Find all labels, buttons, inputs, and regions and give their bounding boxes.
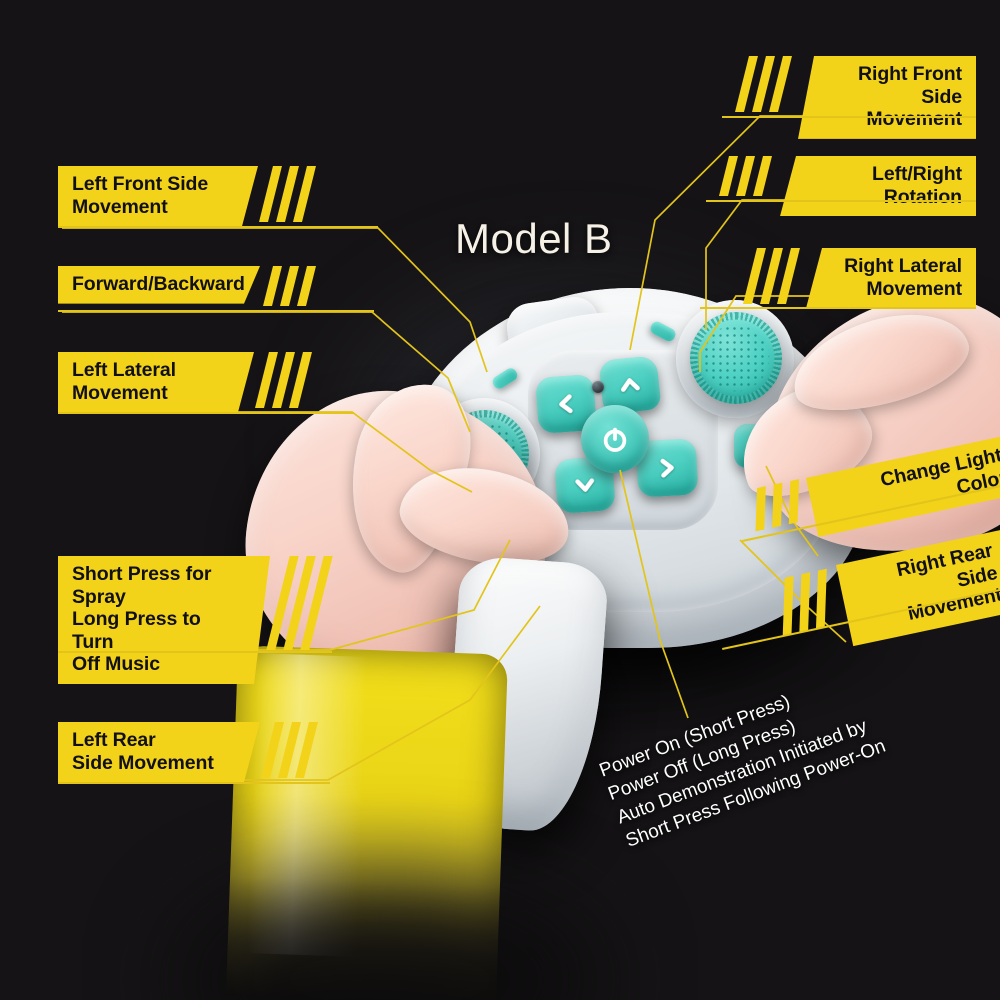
callout-left-front-side-movement: Left Front Side Movement [58, 166, 258, 226]
callout-right-front-side-movement: Right Front Side Movement [798, 56, 976, 139]
chevron-right-icon [653, 454, 680, 481]
underline-right-lateral [700, 307, 976, 309]
chevron-left-icon [552, 390, 580, 418]
callout-right-lateral-movement: Right Lateral Movement [806, 248, 976, 308]
page-title: Model B [455, 215, 613, 263]
wrist-sleeve-highlight [247, 653, 367, 957]
underline-left-rear [58, 782, 330, 784]
underline-forward-backward [58, 310, 374, 312]
power-icon [598, 422, 632, 456]
callout-left-right-rotation: Left/Right Rotation [780, 156, 976, 216]
right-thumbstick-texture [696, 318, 776, 398]
callout-forward-backward: Forward/Backward [58, 266, 260, 304]
status-led [592, 381, 604, 393]
underline-left-lateral [58, 412, 354, 414]
product-infographic: Left Front Side Movement Forward/Backwar… [0, 0, 1000, 1000]
callout-left-lateral-movement: Left Lateral Movement [58, 352, 254, 412]
underline-rotation [706, 200, 976, 202]
callout-spray-music: Short Press for Spray Long Press to Turn… [58, 556, 270, 684]
chevron-up-icon [616, 371, 645, 400]
underline-right-front [722, 116, 976, 118]
chevron-down-icon [571, 471, 599, 499]
callout-left-rear-side-movement: Left Rear Side Movement [58, 722, 260, 782]
power-button[interactable] [581, 405, 649, 473]
underline-left-front [58, 226, 378, 228]
underline-spray-music [58, 651, 332, 653]
